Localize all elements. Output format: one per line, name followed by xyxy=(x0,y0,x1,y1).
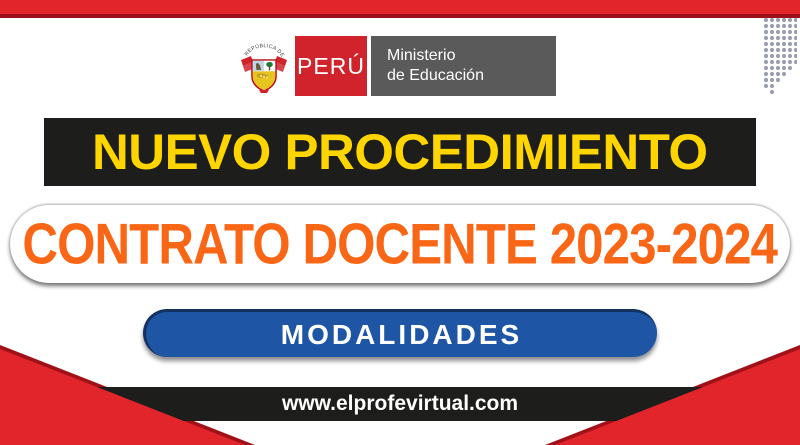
logo-ministry-block: Ministerio de Educación xyxy=(371,36,556,96)
ministry-logo: REPÚBLICA DEL PERÚ xyxy=(233,36,556,96)
headline-line1-band: NUEVO PROCEDIMIENTO xyxy=(44,118,756,186)
top-red-band xyxy=(0,0,800,14)
top-red-band-shadow xyxy=(0,14,800,18)
bottom-right-red-triangle xyxy=(555,349,800,445)
logo-country-label: PERÚ xyxy=(295,36,367,96)
modalidades-badge-label: MODALIDADES xyxy=(281,319,522,351)
bottom-left-red-triangle xyxy=(0,349,245,445)
headline-line2-inner: CONTRATO DOCENTE 2023-2024 xyxy=(16,208,784,280)
promo-poster: REPÚBLICA DEL PERÚ xyxy=(0,0,800,445)
logo-ministry-line2: de Educación xyxy=(387,66,556,86)
headline-line1-text: NUEVO PROCEDIMIENTO xyxy=(92,123,708,181)
svg-text:REPÚBLICA DEL PERÚ: REPÚBLICA DEL PERÚ xyxy=(237,38,285,59)
logo-ministry-line1: Ministerio xyxy=(387,46,556,66)
headline-line2-band: CONTRATO DOCENTE 2023-2024 xyxy=(10,205,790,283)
dot-grid-icon xyxy=(763,17,797,95)
headline-line2-text: CONTRATO DOCENTE 2023-2024 xyxy=(23,211,778,277)
footer-website-text[interactable]: www.elprofevirtual.com xyxy=(282,392,518,416)
peru-coat-of-arms-icon: REPÚBLICA DEL PERÚ xyxy=(233,36,295,96)
